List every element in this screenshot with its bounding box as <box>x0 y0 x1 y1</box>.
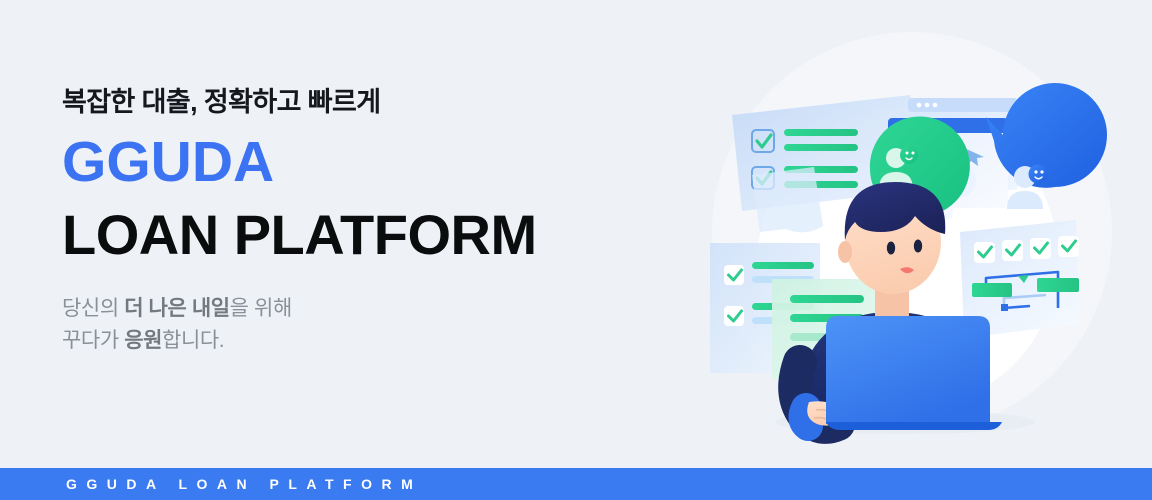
laptop <box>826 316 1002 430</box>
tagline-l2-b: 합니다. <box>162 329 224 352</box>
illustration-svg <box>600 0 1152 470</box>
tagline-l2-strong: 응원 <box>124 329 162 352</box>
ticker-label: GGUDA LOAN PLATFORM <box>66 468 422 500</box>
tagline-line-2: 꾸다가 응원합니다. <box>62 325 622 358</box>
bottom-ticker-bar: GGUDA LOAN PLATFORM <box>0 468 1152 500</box>
hero-headline: LOAN PLATFORM <box>62 207 622 263</box>
hero-eyebrow: 복잡한 대출, 정확하고 빠르게 <box>62 86 622 120</box>
person-head <box>838 182 945 294</box>
tagline-l1-strong: 더 나은 내일 <box>124 297 229 320</box>
hero-brand-name: GGUDA <box>62 134 622 191</box>
tagline-l2-a: 꾸다가 <box>62 329 124 352</box>
hero-illustration <box>600 0 1152 470</box>
tagline-l1-a: 당신의 <box>62 297 124 320</box>
hero-copy-block: 복잡한 대출, 정확하고 빠르게 GGUDA LOAN PLATFORM 당신의… <box>62 86 622 358</box>
tagline-l1-b: 을 위해 <box>230 297 292 320</box>
hero-tagline: 당신의 더 나은 내일을 위해 꾸다가 응원합니다. <box>62 293 622 358</box>
hero-banner: 복잡한 대출, 정확하고 빠르게 GGUDA LOAN PLATFORM 당신의… <box>0 0 1152 500</box>
tagline-line-1: 당신의 더 나은 내일을 위해 <box>62 293 622 326</box>
